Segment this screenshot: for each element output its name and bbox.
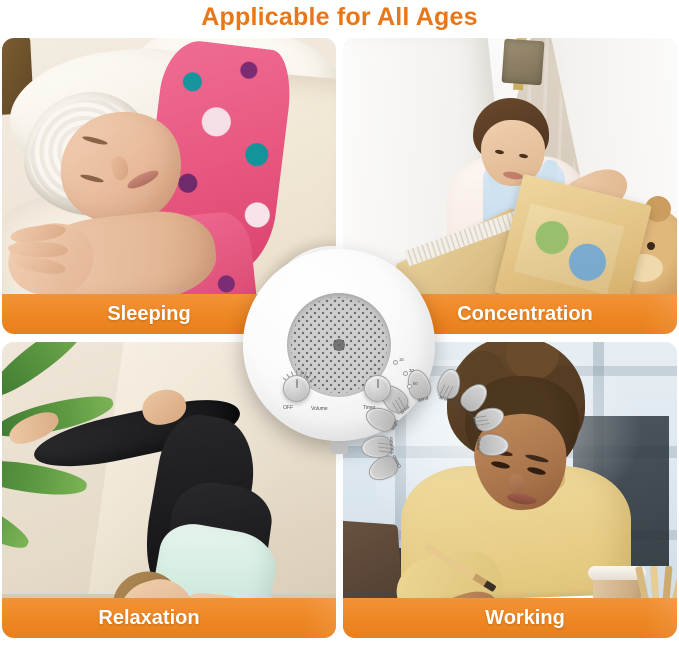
timer-value-15: 15: [399, 357, 404, 362]
page-title: Applicable for All Ages: [0, 0, 679, 36]
off-label: OFF: [283, 405, 293, 411]
timer-dot-30: [403, 371, 408, 376]
caption-relaxation: Relaxation: [2, 598, 336, 638]
timer-value-30: 30: [409, 368, 414, 373]
volume-label: Volume: [311, 406, 328, 412]
timer-label: Timer: [363, 405, 376, 411]
timer-dot-60: [407, 384, 412, 389]
volume-knob[interactable]: [283, 375, 310, 402]
timer-dot-15: [393, 360, 398, 365]
white-noise-machine[interactable]: OceanThunderNightWindWindBrookSummer Nig…: [243, 249, 435, 441]
timer-knob[interactable]: [364, 375, 391, 402]
caption-working: Working: [343, 598, 677, 638]
timer-value-60: 60: [413, 381, 418, 386]
